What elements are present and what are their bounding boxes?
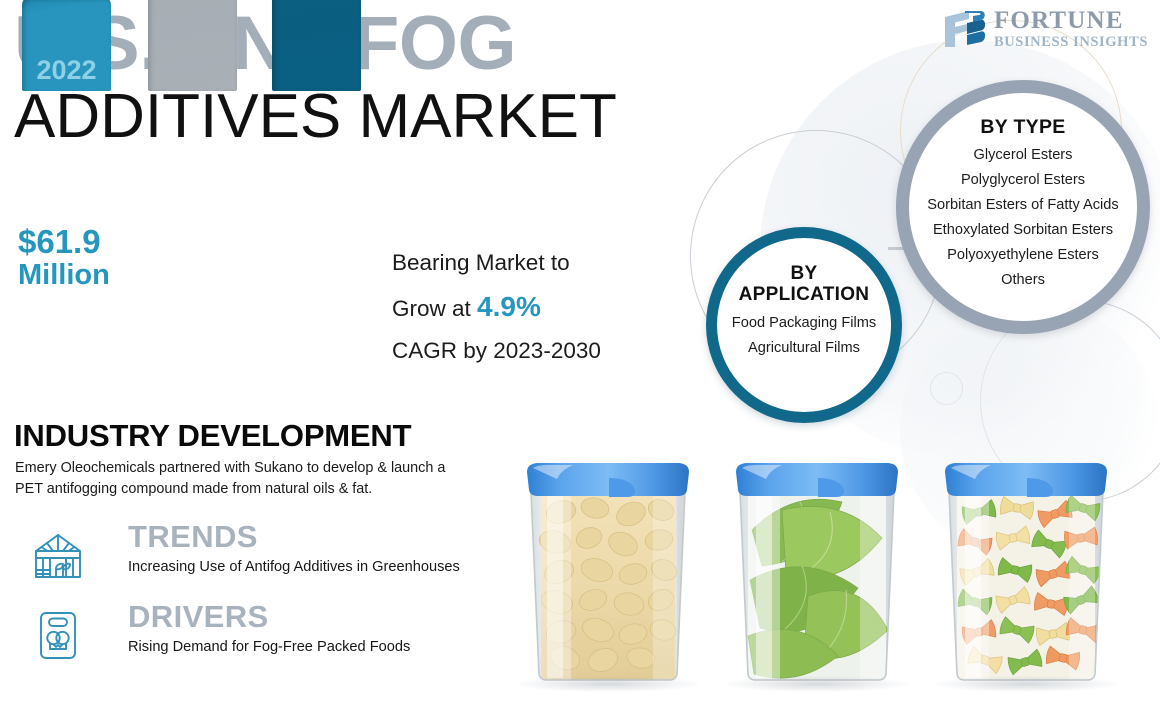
container-green-leaves (722, 450, 912, 685)
cagr-line-1: Bearing Market to (392, 243, 672, 282)
logo-name-secondary: BUSINESS INSIGHTS (994, 35, 1148, 50)
bar-2030 (272, 0, 361, 91)
jar-shadow (935, 676, 1117, 692)
infographic-canvas: U.S. ANTIFOG ADDITIVES MARKET FORTUNE BU… (0, 0, 1160, 701)
by-type-item: Glycerol Esters (974, 143, 1073, 168)
by-type-heading: BY TYPE (980, 117, 1065, 138)
by-type-circle: BY TYPE Glycerol Esters Polyglycerol Est… (896, 80, 1150, 334)
container-farfalle-pasta (931, 450, 1121, 685)
brand-logo: FORTUNE BUSINESS INSIGHTS (943, 8, 1148, 50)
bar-mid (148, 0, 237, 91)
cagr-rate: 4.9% (477, 291, 541, 322)
cagr-line-2: Grow at 4.9% (392, 282, 672, 331)
greenhouse-icon (28, 525, 88, 585)
cagr-line-3: CAGR by 2023-2030 (392, 331, 672, 370)
trends-block: TRENDS Increasing Use of Antifog Additiv… (28, 525, 460, 585)
trends-subtitle: Increasing Use of Antifog Additives in G… (128, 558, 460, 577)
trends-title: TRENDS (128, 519, 258, 554)
fb-logo-icon (943, 9, 987, 49)
drivers-subtitle: Rising Demand for Fog-Free Packed Foods (128, 638, 410, 657)
market-value-unit: Million (18, 260, 138, 291)
cagr-line-2-prefix: Grow at (392, 296, 477, 321)
drivers-block: DRIVERS Rising Demand for Fog-Free Packe… (28, 605, 410, 665)
logo-name-primary: FORTUNE (994, 8, 1148, 33)
cagr-statement: Bearing Market to Grow at 4.9% CAGR by 2… (392, 243, 672, 371)
industry-development-heading: INDUSTRY DEVELOPMENT (14, 418, 411, 454)
market-value-stat: $61.9 Million (18, 225, 138, 291)
logo-wordmark: FORTUNE BUSINESS INSIGHTS (994, 8, 1148, 50)
market-bar-chart: 2022 (0, 0, 400, 400)
industry-development-body: Emery Oleochemicals partnered with Sukan… (15, 458, 465, 500)
by-type-item: Others (1001, 268, 1045, 293)
by-application-item: Agricultural Films (748, 336, 860, 361)
by-type-item: Polyoxyethylene Esters (947, 243, 1099, 268)
food-package-icon (28, 605, 88, 665)
by-type-item: Sorbitan Esters of Fatty Acids (927, 193, 1118, 218)
bg-ring-small (930, 372, 963, 405)
by-type-item: Polyglycerol Esters (961, 168, 1085, 193)
bar-2022: 2022 (22, 0, 111, 91)
by-application-circle: BY APPLICATION Food Packaging Films Agri… (706, 227, 902, 423)
drivers-text: DRIVERS Rising Demand for Fog-Free Packe… (128, 601, 410, 657)
jar-shadow (726, 676, 908, 692)
market-value: $61.9 (18, 225, 138, 260)
by-type-item: Ethoxylated Sorbitan Esters (933, 218, 1113, 243)
container-shell-pasta (513, 450, 703, 685)
drivers-title: DRIVERS (128, 599, 269, 634)
by-application-heading-line2: APPLICATION (739, 285, 870, 306)
jar-shadow (517, 676, 699, 692)
bar-2022-label: 2022 (22, 55, 111, 86)
by-application-heading-line1: BY (739, 264, 870, 285)
by-application-heading: BY APPLICATION (739, 264, 870, 306)
by-application-item: Food Packaging Films (732, 311, 876, 336)
trends-text: TRENDS Increasing Use of Antifog Additiv… (128, 521, 460, 577)
